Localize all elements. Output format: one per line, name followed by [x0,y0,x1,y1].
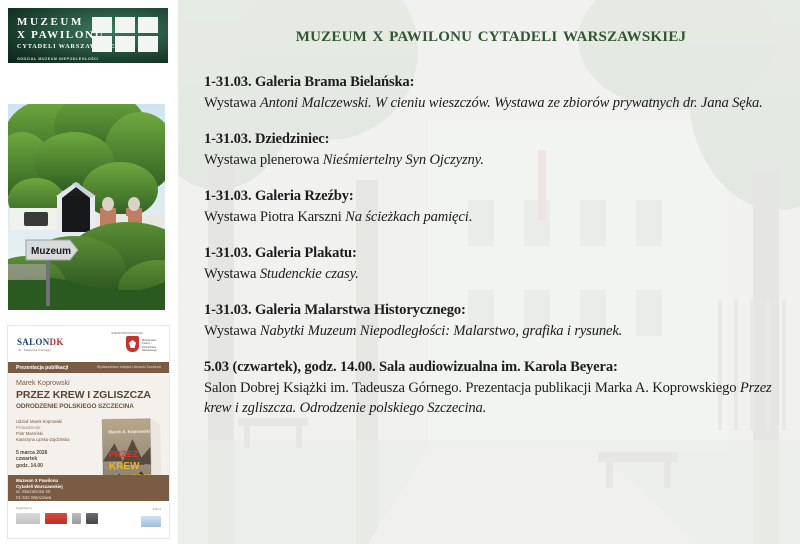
venue-line-4: 01-532 Warszawa [16,495,161,501]
emblem-caption: RZECZPOSPOLITA POLSKA [112,332,143,335]
poster-band: Prezentacja publikacji Wydawnictwo Insty… [8,362,169,373]
poster-author: Marek Koprowski [16,380,161,387]
main-content-panel: Muzeum X Pawilonu Cytadeli Warszawskiej … [178,0,800,544]
salon-logo-accent: DK [50,337,64,347]
salon-logo-subtitle: im. Tadeusza Górnego [18,349,51,352]
sponsor-logo-icon-2 [45,513,67,524]
event-description: Wystawa Piotra Karszni Na ścieżkach pami… [204,207,778,227]
event-heading: 1-31.03. Galeria Rzeźby: [204,187,778,206]
polish-eagle-emblem-icon [126,336,139,352]
salon-logo-word: SALON [17,337,50,347]
ministry-text: Ministerstwo Kultury i Dziedzictwa Narod… [142,339,164,353]
partners-label: Patroni [141,508,161,511]
sponsor-logo-row [16,513,161,524]
event-item: 1-31.03. Galeria Plakatu:Wystawa Studenc… [204,244,778,284]
poster-venue: Muzeum X Pawilonu Cytadeli Warszawskiej … [8,475,169,501]
partners-block: Patroni [141,508,161,532]
event-heading: 5.03 (czwartek), godz. 14.00. Sala audio… [204,358,778,377]
svg-text:Muzeum: Muzeum [31,246,71,257]
svg-text:PRZEZ: PRZEZ [109,449,139,460]
events-list: 1-31.03. Galeria Brama Bielańska:Wystawa… [204,73,778,418]
event-item: 5.03 (czwartek), godz. 14.00. Sala audio… [204,358,778,418]
poster-credit-4: Katarzyna Lipska-Zajdzińska [16,437,90,443]
poster-header: SALONDK im. Tadeusza Górnego RZECZPOSPOL… [8,326,169,362]
event-heading: 1-31.03. Galeria Brama Bielańska: [204,73,778,92]
event-description: Wystawa Nabytki Muzeum Niepodległości: M… [204,321,778,341]
sponsor-logo-icon-3 [72,513,81,524]
partner-logo-icon-1 [141,516,161,527]
salon-logo: SALONDK [17,338,64,347]
poster-band-right: Wydawnictwo Instytut Literacki Szczecin [97,365,161,369]
poster-subtitle: ODRODZENIE POLSKIEGO SZCZECINA [16,403,161,410]
poster-credits: Udział: Marek Koprowski Prowadzenie: Pio… [16,419,90,443]
event-description: Salon Dobrej Książki im. Tadeusza Górneg… [204,378,778,418]
svg-text:Marek A. Koprowski: Marek A. Koprowski [108,429,150,435]
logo-windows-icon [92,17,158,52]
event-description: Wystawa Antoni Malczewski. W cieniu wies… [204,93,778,113]
event-heading: 1-31.03. Dziedziniec: [204,130,778,149]
event-heading: 1-31.03. Galeria Malarstwa Historycznego… [204,301,778,320]
sponsor-logo-icon-1 [16,513,40,524]
left-media-column: MUZEUM X PAWILONU CYTADELI WARSZAWSKIEJ … [0,0,178,544]
event-item: 1-31.03. Dziedziniec:Wystawa plenerowa N… [204,130,778,170]
event-heading: 1-31.03. Galeria Plakatu: [204,244,778,263]
logo-line-oddzial: ODDZIAŁ MUZEUM NIEPODLEGŁOŚCI [17,55,113,63]
event-description: Wystawa Studenckie czasy. [204,264,778,284]
photo-park-museum-sign: Muzeum [8,104,165,310]
poster-title: PRZEZ KREW I ZGLISZCZA [16,390,161,401]
event-item: 1-31.03. Galeria Rzeźby:Wystawa Piotra K… [204,187,778,227]
main-inner: Muzeum X Pawilonu Cytadeli Warszawskiej … [178,0,800,544]
poster-page: MUZEUM X PAWILONU CYTADELI WARSZAWSKIEJ … [0,0,800,544]
svg-text:KREW: KREW [109,461,140,473]
photo-book-launch-poster: SALONDK im. Tadeusza Górnego RZECZPOSPOL… [8,326,169,538]
poster-sponsors: Organizatorzy Patroni [8,501,169,538]
event-item: 1-31.03. Galeria Malarstwa Historycznego… [204,301,778,341]
photo-park-illustration: Muzeum [8,104,165,310]
page-title: Muzeum X Pawilonu Cytadeli Warszawskiej [204,21,778,47]
museum-logo: MUZEUM X PAWILONU CYTADELI WARSZAWSKIEJ … [8,8,168,63]
event-description: Wystawa plenerowa Nieśmiertelny Syn Ojcz… [204,150,778,170]
sponsor-logo-icon-4 [86,513,98,524]
sponsors-label: Organizatorzy [16,507,161,510]
poster-band-left: Prezentacja publikacji [16,365,68,371]
event-item: 1-31.03. Galeria Brama Bielańska:Wystawa… [204,73,778,113]
